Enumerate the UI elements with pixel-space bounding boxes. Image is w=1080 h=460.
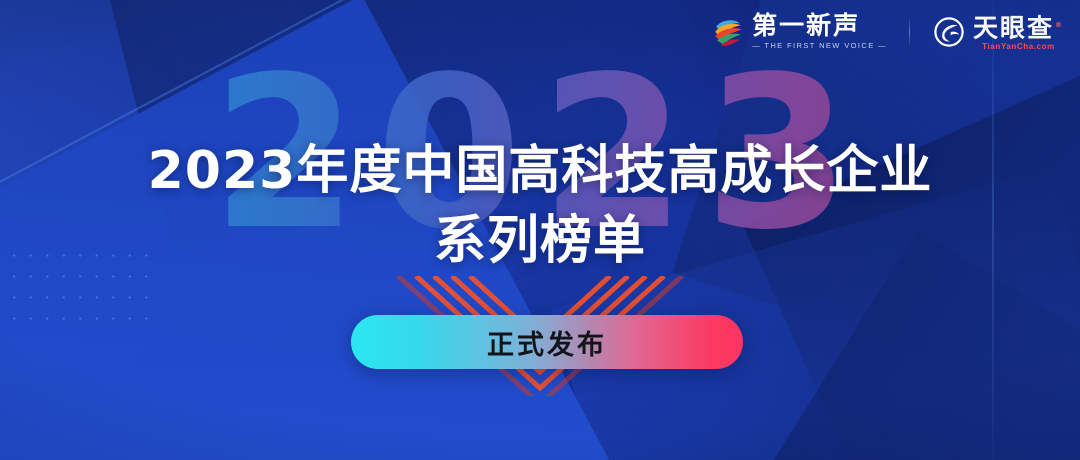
promo-banner: 2023 2023年度中国高科技高成长企业 系列榜单 正式发布 (0, 0, 1080, 460)
release-cta-label: 正式发布 (487, 323, 607, 362)
logo-tianyancha-domain: TianYanCha.com (973, 42, 1064, 51)
logo-tianyancha-name-cn: 天眼查 (973, 13, 1054, 42)
registered-trademark-icon: ® (1055, 21, 1064, 29)
logo-diyixinsheng-name: 第一新声 (752, 13, 887, 39)
camera-shutter-eye-logo-icon (932, 15, 966, 49)
logo-diyixinsheng-tagline: — THE FIRST NEW VOICE — (752, 41, 887, 50)
page-title: 2023年度中国高科技高成长企业 系列榜单 (0, 136, 1080, 276)
logo-divider (909, 17, 910, 47)
logo-tianyancha-text: 天眼查® TianYanCha.com (973, 12, 1064, 51)
headline-line-2: 系列榜单 (0, 206, 1080, 276)
logo-diyixinsheng[interactable]: 第一新声 — THE FIRST NEW VOICE — (711, 13, 887, 50)
release-cta-button[interactable]: 正式发布 (351, 315, 743, 369)
swirl-ribbon-logo-icon (711, 15, 745, 49)
logo-tianyancha-name: 天眼查® (973, 12, 1064, 41)
logo-bar: 第一新声 — THE FIRST NEW VOICE — 天眼查® TianYa… (711, 12, 1064, 51)
logo-diyixinsheng-text: 第一新声 — THE FIRST NEW VOICE — (752, 13, 887, 50)
headline-line-1: 2023年度中国高科技高成长企业 (148, 141, 933, 201)
logo-tianyancha[interactable]: 天眼查® TianYanCha.com (932, 12, 1064, 51)
